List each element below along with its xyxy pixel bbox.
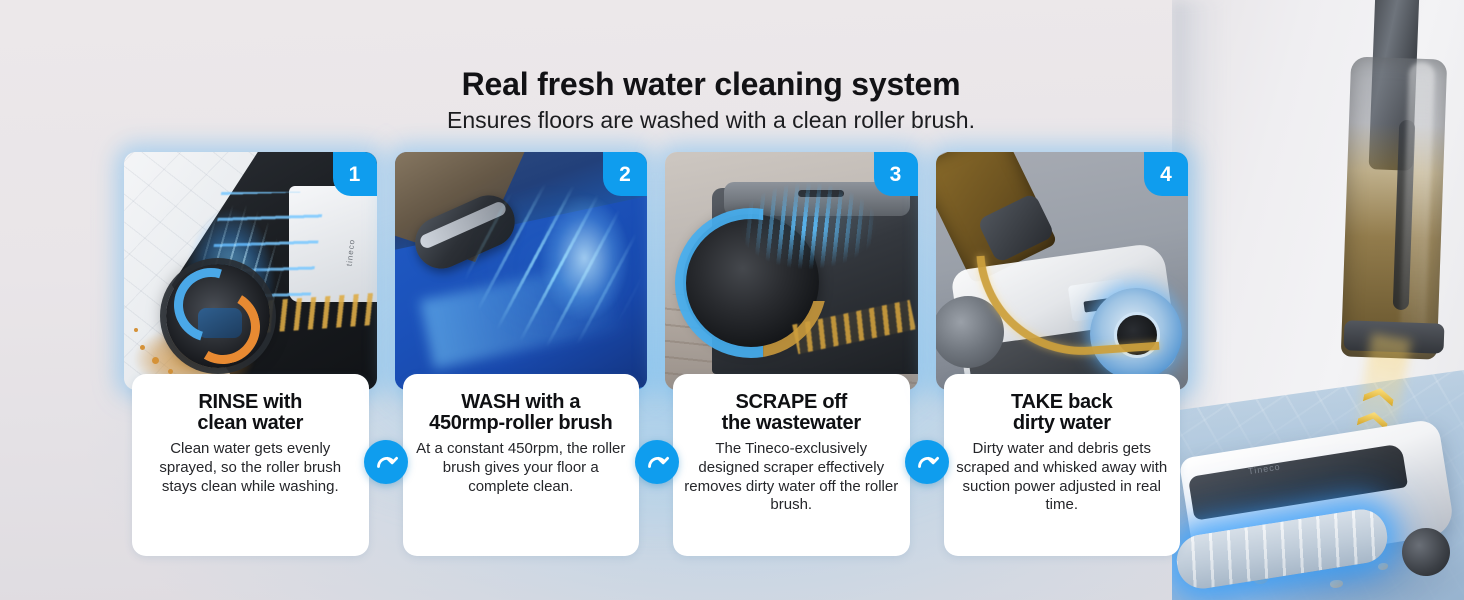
step-image-4: 4: [936, 152, 1189, 390]
step-text-4: TAKE back dirty water Dirty water and de…: [944, 374, 1181, 556]
step-number-badge-1: 1: [333, 152, 377, 196]
step-title-3: SCRAPE off the wastewater: [684, 392, 899, 434]
infographic-stage: Tineco Real fresh water cleaning system …: [0, 0, 1464, 600]
step-text-1: RINSE with clean water Clean water gets …: [132, 374, 369, 556]
step-title-4: TAKE back dirty water: [955, 392, 1170, 434]
step-card-3[interactable]: 3 SCRAPE off the wastewater The Tineco-e…: [665, 152, 918, 562]
step-title-line1: TAKE back: [1011, 391, 1112, 413]
step-title-line1: RINSE with: [198, 391, 302, 413]
step-image-3: 3: [665, 152, 918, 390]
step-title-line2: 450rmp-roller brush: [414, 413, 629, 434]
step-title-1: RINSE with clean water: [143, 392, 358, 434]
step-image-1: tineco 1: [124, 152, 377, 390]
rotate-arrow-icon: [644, 449, 670, 475]
step-title-line2: the wastewater: [684, 413, 899, 434]
step-connector-3: [905, 440, 949, 484]
step-card-1[interactable]: tineco 1 RINSE with clean water Clean wa…: [124, 152, 377, 562]
step-title-line1: SCRAPE off: [736, 391, 847, 413]
step-connector-1: [364, 440, 408, 484]
rotate-arrow-icon: [914, 449, 940, 475]
step-number-badge-4: 4: [1144, 152, 1188, 196]
step-number-badge-3: 3: [874, 152, 918, 196]
rotate-arrow-icon: [373, 449, 399, 475]
step-description-2: At a constant 450rpm, the roller brush g…: [414, 440, 629, 496]
step-description-3: The Tineco-exclusively designed scraper …: [684, 440, 899, 514]
step-title-line1: WASH with a: [461, 391, 580, 413]
steps-row: tineco 1 RINSE with clean water Clean wa…: [124, 152, 1188, 562]
step-image-2: 2: [395, 152, 648, 390]
step-title-line2: dirty water: [955, 413, 1170, 434]
heading-block: Real fresh water cleaning system Ensures…: [0, 66, 1422, 135]
step-connector-2: [635, 440, 679, 484]
step-description-1: Clean water gets evenly sprayed, so the …: [143, 440, 358, 496]
step-title-2: WASH with a 450rmp-roller brush: [414, 392, 629, 434]
step-description-4: Dirty water and debris gets scraped and …: [955, 440, 1170, 514]
step-text-2: WASH with a 450rmp-roller brush At a con…: [403, 374, 640, 556]
step-text-3: SCRAPE off the wastewater The Tineco-exc…: [673, 374, 910, 556]
step-title-line2: clean water: [143, 413, 358, 434]
step-card-4[interactable]: 4 TAKE back dirty water Dirty water and …: [936, 152, 1189, 562]
step-number-badge-2: 2: [603, 152, 647, 196]
step-card-2[interactable]: 2 WASH with a 450rmp-roller brush At a c…: [395, 152, 648, 562]
page-title: Real fresh water cleaning system: [0, 66, 1422, 102]
page-subtitle: Ensures floors are washed with a clean r…: [0, 107, 1422, 135]
